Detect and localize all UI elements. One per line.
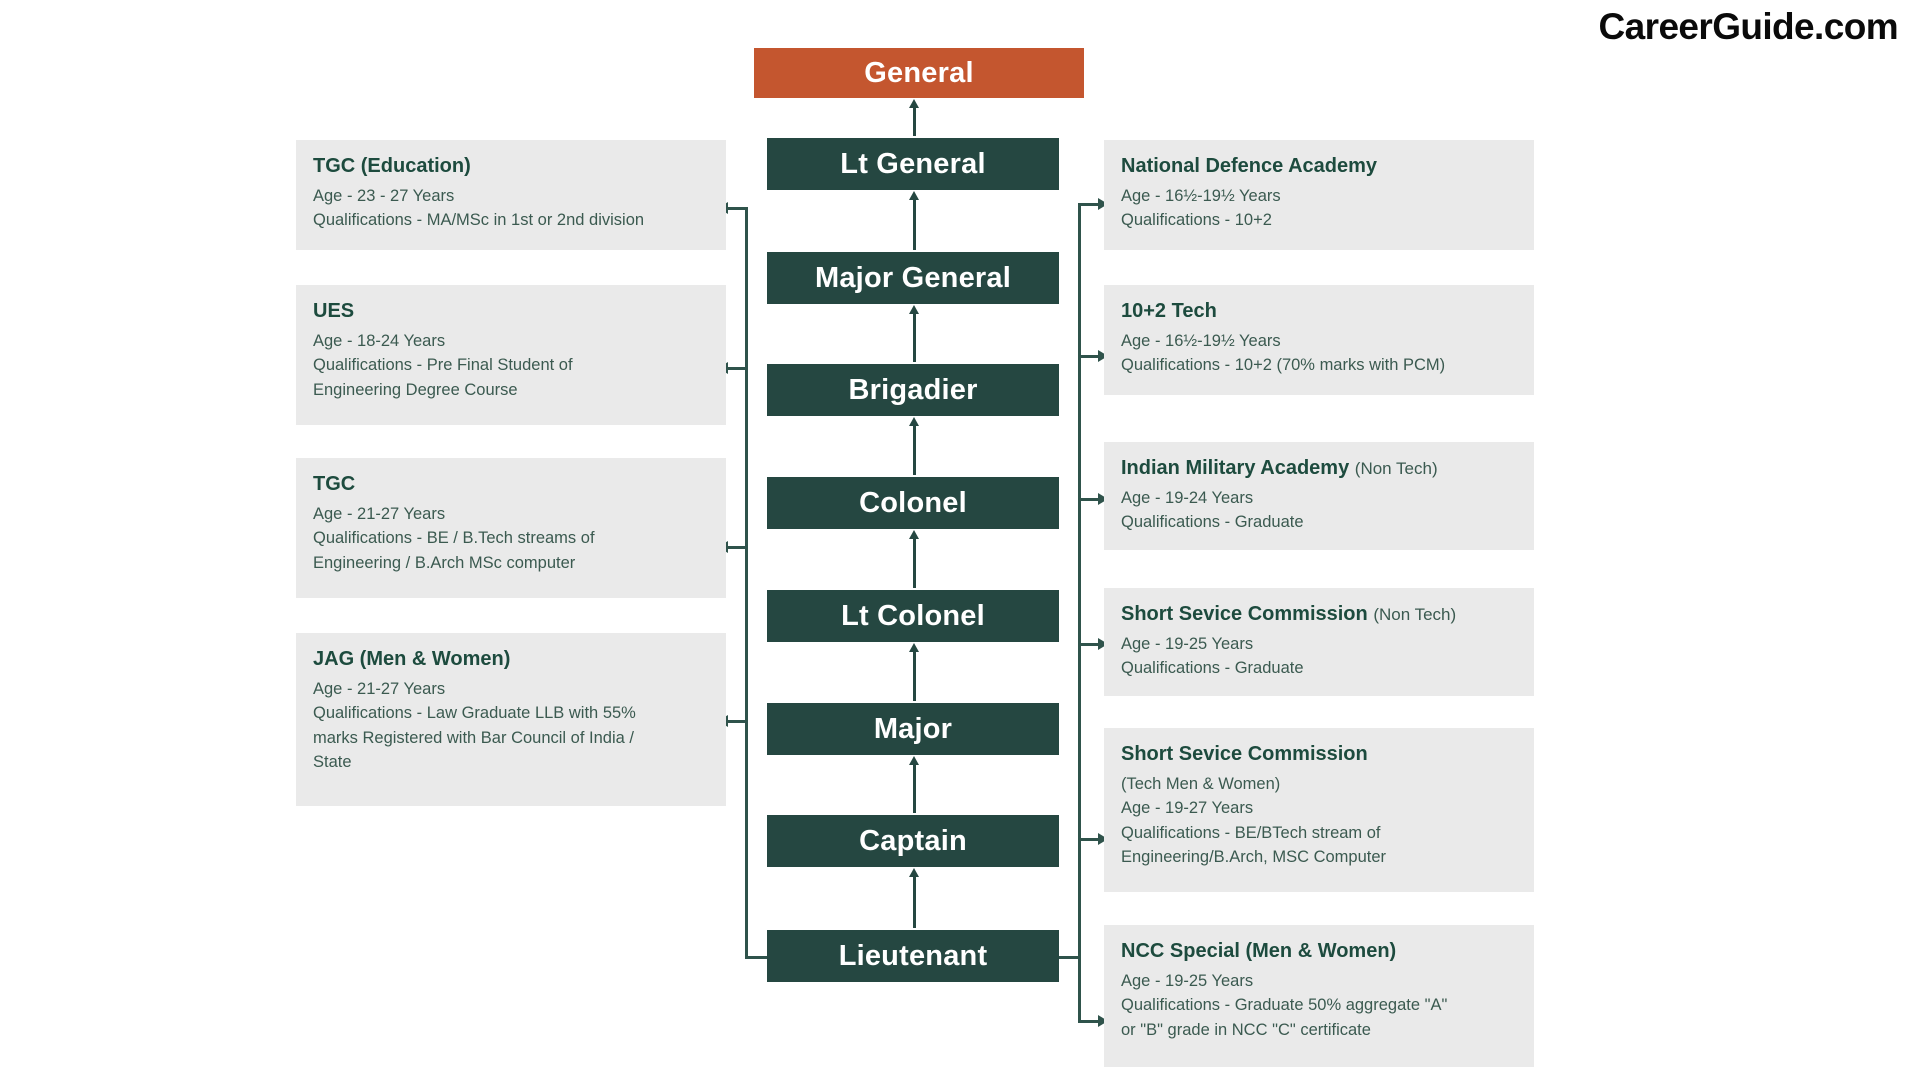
- entry-card-title: Short Sevice Commission: [1121, 742, 1517, 767]
- entry-card-title-qualifier: (Non Tech): [1355, 459, 1438, 478]
- right-entry-arrow-icon: [1078, 203, 1099, 206]
- entry-card-title-main: JAG (Men & Women): [313, 648, 510, 670]
- entry-card-title-main: NCC Special (Men & Women): [1121, 940, 1396, 962]
- entry-card-title: TGC: [313, 472, 709, 497]
- entry-card-line: Age - 18-24 Years: [313, 329, 709, 353]
- promotion-arrow-icon: [913, 104, 916, 136]
- entry-card-title-main: TGC: [313, 473, 355, 495]
- entry-card-line: Age - 23 - 27 Years: [313, 184, 709, 208]
- rank-box-captain[interactable]: Captain: [767, 815, 1059, 867]
- entry-card-line: Qualifications - Graduate: [1121, 510, 1517, 534]
- promotion-arrow-icon: [913, 873, 916, 928]
- promotion-arrow-icon: [913, 648, 916, 701]
- entry-card[interactable]: UESAge - 18-24 YearsQualifications - Pre…: [296, 285, 726, 425]
- left-entry-arrow-icon: [727, 367, 748, 370]
- promotion-arrow-icon: [913, 535, 916, 588]
- entry-card-line: Age - 19-24 Years: [1121, 486, 1517, 510]
- army-rank-flowchart: CareerGuide.com GeneralLt GeneralMajor G…: [0, 0, 1920, 1080]
- entry-card[interactable]: Short Sevice Commission (Non Tech)Age - …: [1104, 588, 1534, 696]
- entry-card-title-qualifier: (Non Tech): [1373, 605, 1456, 624]
- entry-card-title-main: 10+2 Tech: [1121, 300, 1217, 322]
- entry-card-title-main: Short Sevice Commission: [1121, 603, 1368, 625]
- rank-box-colonel[interactable]: Colonel: [767, 477, 1059, 529]
- entry-card-line: Qualifications - 10+2 (70% marks with PC…: [1121, 353, 1517, 377]
- entry-card-line: Age - 16½-19½ Years: [1121, 329, 1517, 353]
- entry-card-line: Qualifications - Law Graduate LLB with 5…: [313, 701, 709, 725]
- entry-card-title: National Defence Academy: [1121, 154, 1517, 179]
- entry-card-line: Qualifications - Pre Final Student of: [313, 353, 709, 377]
- right-bus-join: [1059, 956, 1081, 959]
- entry-card[interactable]: National Defence AcademyAge - 16½-19½ Ye…: [1104, 140, 1534, 250]
- entry-card-line: State: [313, 750, 709, 774]
- entry-card-line: Qualifications - 10+2: [1121, 208, 1517, 232]
- right-entry-arrow-icon: [1078, 1020, 1099, 1023]
- left-bus-join: [745, 956, 767, 959]
- entry-card-line: Age - 21-27 Years: [313, 677, 709, 701]
- entry-card-title: Indian Military Academy (Non Tech): [1121, 456, 1517, 481]
- rank-box-lieutenant[interactable]: Lieutenant: [767, 930, 1059, 982]
- entry-card-line: Engineering / B.Arch MSc computer: [313, 551, 709, 575]
- entry-card-title-main: Indian Military Academy: [1121, 457, 1349, 479]
- entry-card[interactable]: TGC (Education)Age - 23 - 27 YearsQualif…: [296, 140, 726, 250]
- entry-card-line: Qualifications - BE / B.Tech streams of: [313, 526, 709, 550]
- entry-card-title: NCC Special (Men & Women): [1121, 939, 1517, 964]
- entry-card-line: Qualifications - Graduate: [1121, 656, 1517, 680]
- promotion-arrow-icon: [913, 761, 916, 813]
- entry-card[interactable]: Indian Military Academy (Non Tech)Age - …: [1104, 442, 1534, 550]
- left-entry-arrow-icon: [727, 546, 748, 549]
- right-entry-arrow-icon: [1078, 643, 1099, 646]
- entry-card-line: marks Registered with Bar Council of Ind…: [313, 726, 709, 750]
- entry-card-line: Age - 19-27 Years: [1121, 796, 1517, 820]
- entry-card[interactable]: 10+2 TechAge - 16½-19½ YearsQualificatio…: [1104, 285, 1534, 395]
- entry-card-title: JAG (Men & Women): [313, 647, 709, 672]
- entry-card[interactable]: JAG (Men & Women)Age - 21-27 YearsQualif…: [296, 633, 726, 806]
- entry-card-title-main: National Defence Academy: [1121, 155, 1377, 177]
- entry-card-line: Qualifications - BE/BTech stream of: [1121, 821, 1517, 845]
- rank-box-brigadier[interactable]: Brigadier: [767, 364, 1059, 416]
- entry-card-title-main: UES: [313, 300, 354, 322]
- site-logo: CareerGuide.com: [1599, 6, 1898, 48]
- entry-card-line: Age - 19-25 Years: [1121, 969, 1517, 993]
- rank-box-major[interactable]: Major: [767, 703, 1059, 755]
- rank-box-lt-colonel[interactable]: Lt Colonel: [767, 590, 1059, 642]
- entry-card-line: (Tech Men & Women): [1121, 772, 1517, 796]
- entry-card-line: Age - 19-25 Years: [1121, 632, 1517, 656]
- entry-card-line: or "B" grade in NCC "C" certificate: [1121, 1018, 1517, 1042]
- entry-card-line: Engineering Degree Course: [313, 378, 709, 402]
- entry-card-title: 10+2 Tech: [1121, 299, 1517, 324]
- entry-card-line: Qualifications - MA/MSc in 1st or 2nd di…: [313, 208, 709, 232]
- right-entry-arrow-icon: [1078, 838, 1099, 841]
- promotion-arrow-icon: [913, 422, 916, 475]
- entry-card-title-main: Short Sevice Commission: [1121, 743, 1368, 765]
- rank-box-major-general[interactable]: Major General: [767, 252, 1059, 304]
- rank-box-lt-general[interactable]: Lt General: [767, 138, 1059, 190]
- entry-card-line: Age - 21-27 Years: [313, 502, 709, 526]
- rank-box-general[interactable]: General: [754, 48, 1084, 98]
- entry-card-title: Short Sevice Commission (Non Tech): [1121, 602, 1517, 627]
- promotion-arrow-icon: [913, 310, 916, 362]
- left-entry-arrow-icon: [727, 720, 748, 723]
- entry-card-title: TGC (Education): [313, 154, 709, 179]
- entry-card[interactable]: TGCAge - 21-27 YearsQualifications - BE …: [296, 458, 726, 598]
- promotion-arrow-icon: [913, 196, 916, 250]
- entry-card-line: Age - 16½-19½ Years: [1121, 184, 1517, 208]
- entry-card-line: Engineering/B.Arch, MSC Computer: [1121, 845, 1517, 869]
- right-entry-arrow-icon: [1078, 498, 1099, 501]
- entry-card[interactable]: Short Sevice Commission(Tech Men & Women…: [1104, 728, 1534, 892]
- right-connector-bus: [1078, 203, 1081, 1020]
- entry-card-title: UES: [313, 299, 709, 324]
- left-connector-bus: [745, 207, 748, 956]
- entry-card-title-main: TGC (Education): [313, 155, 471, 177]
- right-entry-arrow-icon: [1078, 355, 1099, 358]
- entry-card[interactable]: NCC Special (Men & Women)Age - 19-25 Yea…: [1104, 925, 1534, 1067]
- entry-card-line: Qualifications - Graduate 50% aggregate …: [1121, 993, 1517, 1017]
- left-entry-arrow-icon: [727, 207, 748, 210]
